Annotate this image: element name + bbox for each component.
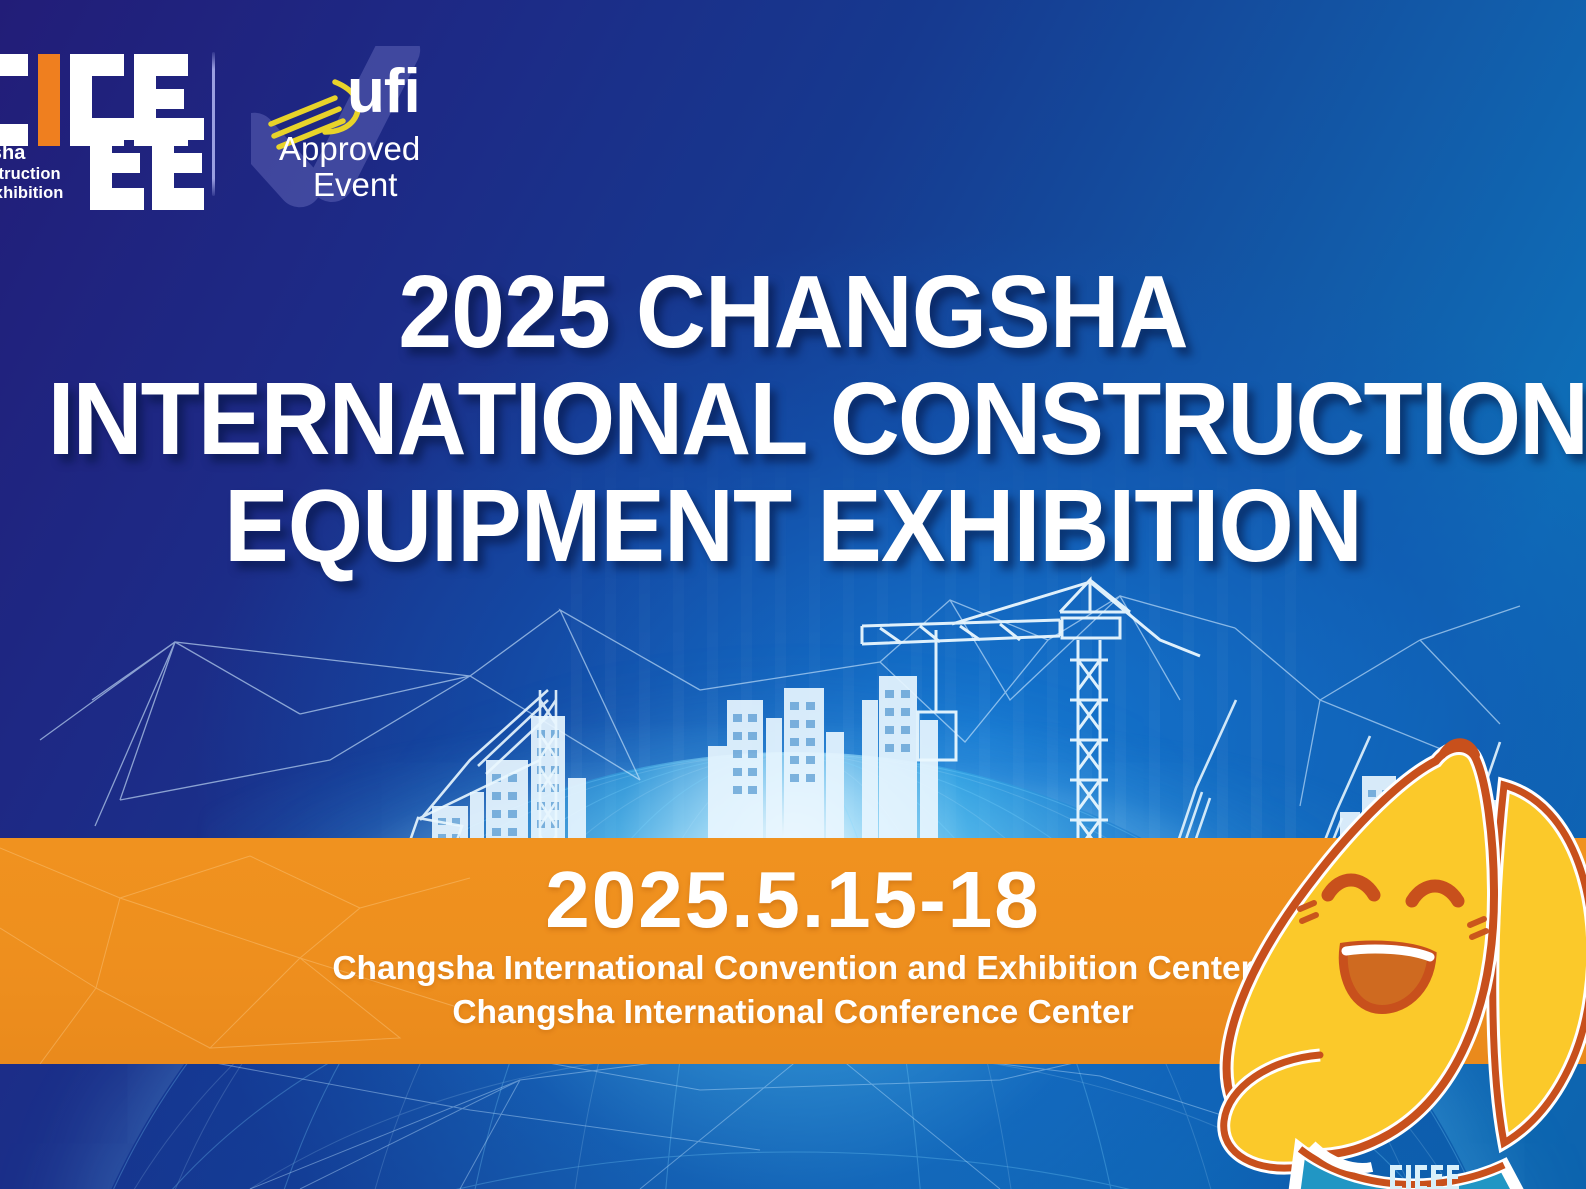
logo-divider	[212, 52, 215, 196]
cicee-subtitle-line-2: nal Construction	[0, 165, 108, 184]
cicee-subtitle-line-1: Changsha	[0, 142, 108, 165]
headline-line-3: EQUIPMENT EXHIBITION	[48, 472, 1539, 579]
svg-text:ufi: ufi	[347, 57, 420, 126]
cicee-logo[interactable]: Changsha nal Construction oment Exhibiti…	[0, 46, 204, 206]
svg-text:Approved: Approved	[279, 130, 420, 167]
cicee-mascot	[1204, 725, 1586, 1189]
logo-row: Changsha nal Construction oment Exhibiti…	[0, 46, 451, 221]
svg-text:Event: Event	[313, 166, 397, 203]
cicee-subtitle: Changsha nal Construction oment Exhibiti…	[0, 142, 108, 203]
event-promo-banner: Changsha nal Construction oment Exhibiti…	[0, 0, 1586, 1189]
cicee-accent-letter	[38, 54, 60, 146]
cicee-subtitle-line-3: oment Exhibition	[0, 184, 108, 203]
headline-line-2: INTERNATIONAL CONSTRUCTION	[48, 365, 1539, 472]
headline-line-1: 2025 CHANGSHA	[48, 258, 1539, 365]
ufi-approved-event-badge[interactable]: ufi Approved Event	[251, 46, 451, 221]
page-title: 2025 CHANGSHA INTERNATIONAL CONSTRUCTION…	[48, 258, 1539, 579]
